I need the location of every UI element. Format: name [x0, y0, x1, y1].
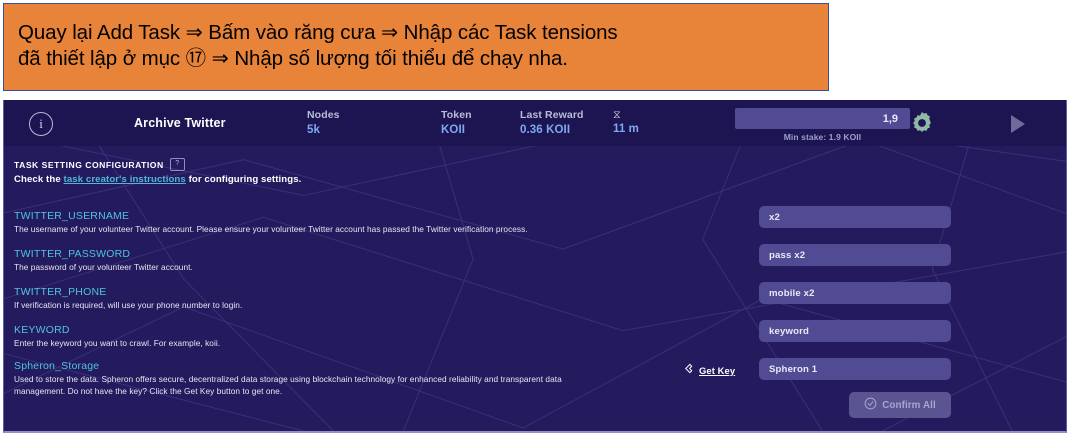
instruction-banner: Quay lại Add Task ⇒ Bấm vào răng cưa ⇒ N…	[3, 3, 829, 91]
stat-token-label: Token	[441, 109, 472, 121]
stat-run-time-value: 11 m	[613, 123, 639, 135]
help-badge-icon[interactable]: ?	[170, 158, 185, 171]
stat-run-time: ⧖ 11 m	[613, 109, 639, 135]
field-label-twitter-password: TWITTER_PASSWORD	[14, 248, 130, 260]
gear-icon[interactable]	[909, 110, 935, 136]
stat-nodes-label: Nodes	[307, 109, 340, 121]
stake-input[interactable]: 1,9	[735, 108, 910, 129]
stat-last-reward: Last Reward 0.36 KOII	[520, 109, 584, 136]
task-panel: i Archive Twitter Nodes 5k Token KOII La…	[3, 100, 1067, 433]
task-creator-instructions-link[interactable]: task creator's instructions	[64, 174, 186, 185]
stat-last-reward-value: 0.36 KOII	[520, 124, 584, 136]
get-key-label: Get Key	[699, 365, 735, 376]
instruction-line-2: đã thiết lập ở mục ⑰ ⇒ Nhập số lượng tối…	[18, 46, 814, 72]
stake-area: 1,9 Min stake: 1.9 KOII	[735, 108, 910, 142]
input-twitter-username[interactable]: x2	[759, 206, 951, 228]
stat-token: Token KOII	[441, 109, 472, 136]
stat-nodes-value: 5k	[307, 124, 340, 136]
field-desc-twitter-password: The password of your volunteer Twitter a…	[14, 262, 614, 274]
key-icon	[683, 361, 694, 379]
stat-token-value: KOII	[441, 124, 472, 136]
field-desc-spheron-storage: Used to store the data. Spheron offers s…	[14, 374, 579, 397]
config-subtitle-prefix: Check the	[14, 174, 64, 185]
input-spheron-storage[interactable]: Spheron 1	[759, 358, 951, 380]
config-subtitle-suffix: for configuring settings.	[186, 174, 302, 185]
task-settings-body: TASK SETTING CONFIGURATION ? Check the t…	[4, 146, 1066, 433]
check-circle-icon	[864, 397, 877, 413]
instruction-line-1: Quay lại Add Task ⇒ Bấm vào răng cưa ⇒ N…	[18, 20, 814, 46]
screenshot-root: Quay lại Add Task ⇒ Bấm vào răng cưa ⇒ N…	[0, 0, 1070, 436]
confirm-all-label: Confirm All	[882, 400, 936, 411]
field-label-twitter-username: TWITTER_USERNAME	[14, 210, 129, 222]
field-label-twitter-phone: TWITTER_PHONE	[14, 286, 106, 298]
stat-last-reward-label: Last Reward	[520, 109, 584, 121]
confirm-all-button[interactable]: Confirm All	[849, 392, 951, 418]
config-title-row: TASK SETTING CONFIGURATION ?	[14, 158, 185, 171]
input-twitter-phone[interactable]: mobile x2	[759, 282, 951, 304]
field-label-spheron-storage: Spheron_Storage	[14, 360, 99, 372]
task-title: Archive Twitter	[134, 116, 226, 130]
field-label-keyword: KEYWORD	[14, 324, 70, 336]
task-header: i Archive Twitter Nodes 5k Token KOII La…	[4, 100, 1066, 146]
field-desc-twitter-phone: If verification is required, will use yo…	[14, 300, 614, 312]
stat-nodes: Nodes 5k	[307, 109, 340, 136]
min-stake-note: Min stake: 1.9 KOII	[735, 132, 910, 142]
field-desc-twitter-username: The username of your volunteer Twitter a…	[14, 224, 614, 236]
config-subtitle: Check the task creator's instructions fo…	[14, 174, 301, 185]
input-twitter-password[interactable]: pass x2	[759, 244, 951, 266]
info-icon[interactable]: i	[29, 112, 53, 136]
field-desc-keyword: Enter the keyword you want to crawl. For…	[14, 338, 614, 350]
input-keyword[interactable]: keyword	[759, 320, 951, 342]
config-title: TASK SETTING CONFIGURATION	[14, 160, 164, 170]
hourglass-icon: ⧖	[613, 109, 639, 121]
play-icon[interactable]	[1009, 114, 1027, 134]
get-key-button[interactable]: Get Key	[683, 361, 735, 379]
stake-value: 1,9	[883, 113, 898, 125]
